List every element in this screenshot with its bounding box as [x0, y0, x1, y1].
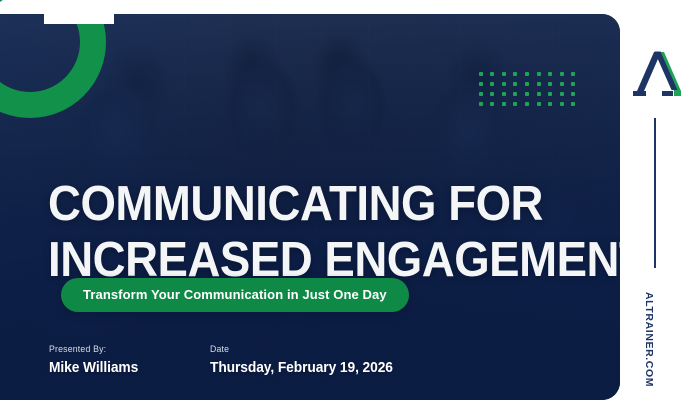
presenter-label: Presented By:: [49, 344, 197, 355]
grid-dot: [490, 82, 494, 86]
grid-dot: [548, 82, 552, 86]
slide-meta-row: Presented By: Mike Williams Date Thursda…: [49, 344, 409, 376]
grid-dot: [513, 82, 517, 86]
grid-dot: [479, 72, 483, 76]
green-dot-grid-icon: [475, 69, 579, 109]
grid-dot: [525, 102, 529, 106]
grid-dot: [537, 72, 541, 76]
grid-dot: [525, 72, 529, 76]
grid-dot: [571, 82, 575, 86]
grid-dot: [560, 92, 564, 96]
brand-website-wrap: ALTRAINER.COM: [620, 0, 690, 420]
brand-website: ALTRAINER.COM: [643, 292, 655, 387]
grid-dot: [525, 92, 529, 96]
slide-canvas: COMMUNICATING FOR INCREASED ENGAGEMENT T…: [0, 0, 690, 420]
date-value: Thursday, February 19, 2026: [210, 359, 393, 376]
grid-dot: [502, 72, 506, 76]
grid-dot: [560, 82, 564, 86]
presenter-name: Mike Williams: [49, 359, 197, 376]
grid-dot: [537, 92, 541, 96]
grid-dot: [560, 102, 564, 106]
grid-dot: [525, 82, 529, 86]
slide-title: COMMUNICATING FOR INCREASED ENGAGEMENT: [48, 176, 561, 288]
grid-dot: [571, 72, 575, 76]
grid-dot: [537, 102, 541, 106]
brand-rail: ALTRAINER.COM: [620, 0, 690, 420]
grid-dot: [571, 102, 575, 106]
grid-dot: [502, 82, 506, 86]
grid-dot: [513, 72, 517, 76]
grid-dot: [560, 72, 564, 76]
date-label: Date: [210, 344, 393, 355]
grid-dot: [548, 92, 552, 96]
grid-dot: [571, 92, 575, 96]
grid-dot: [548, 72, 552, 76]
grid-dot: [490, 102, 494, 106]
grid-dot: [490, 72, 494, 76]
grid-dot: [502, 102, 506, 106]
grid-dot: [502, 92, 506, 96]
date-block: Date Thursday, February 19, 2026: [210, 344, 409, 376]
title-line-1: COMMUNICATING FOR: [48, 176, 561, 232]
grid-dot: [548, 102, 552, 106]
presenter-block: Presented By: Mike Williams: [49, 344, 210, 376]
grid-dot: [479, 92, 483, 96]
grid-dot: [479, 82, 483, 86]
grid-dot: [513, 102, 517, 106]
ring-top-mask: [44, 0, 114, 24]
grid-dot: [479, 102, 483, 106]
subtitle-badge: Transform Your Communication in Just One…: [61, 278, 409, 312]
grid-dot: [490, 92, 494, 96]
grid-dot: [537, 82, 541, 86]
grid-dot: [513, 92, 517, 96]
